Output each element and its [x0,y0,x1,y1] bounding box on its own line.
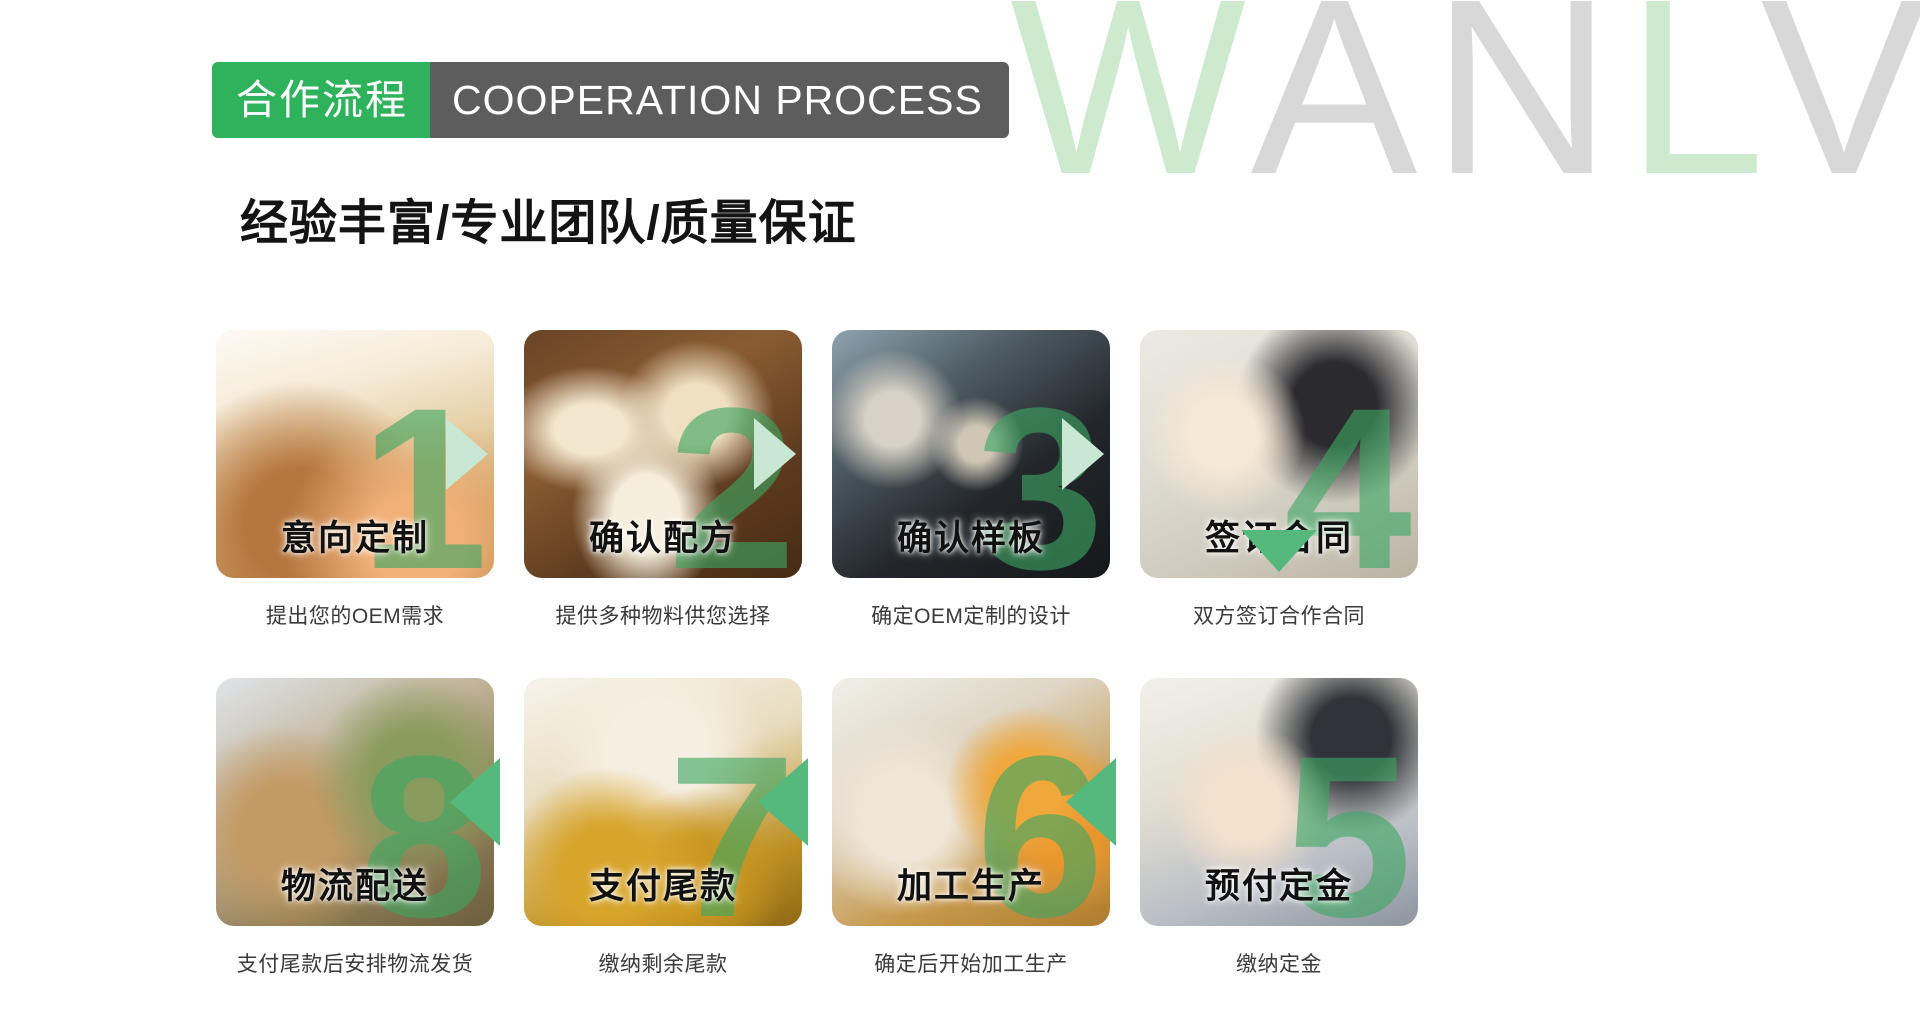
step-6-caption: 确定后开始加工生产 [832,948,1110,978]
section-title-banner: 合作流程 COOPERATION PROCESS [212,62,1009,138]
step-4-caption: 双方签订合作合同 [1140,600,1418,630]
step-1-label: 意向定制 [216,521,494,556]
step-card-5[interactable]: 5 预付定金 缴纳定金 [1140,678,1418,978]
step-3-label: 确认样板 [832,521,1110,556]
arrow-1-to-2-icon [446,418,488,490]
step-7-label: 支付尾款 [524,869,802,904]
step-8-label: 物流配送 [216,869,494,904]
process-steps-grid: 1 意向定制 提出您的OEM需求 2 确认配方 提供多种物料供您选择 3 [0,330,1920,978]
step-5-label: 预付定金 [1140,869,1418,904]
step-7-caption: 缴纳剩余尾款 [524,948,802,978]
step-6-label: 加工生产 [832,869,1110,904]
arrow-5-to-6-icon [1066,758,1116,846]
section-title-english: COOPERATION PROCESS [430,62,1009,138]
step-8-caption: 支付尾款后安排物流发货 [216,948,494,978]
arrow-2-to-3-icon [754,418,796,490]
watermark-letters-an: AN [1251,0,1626,226]
step-3-caption: 确定OEM定制的设计 [832,600,1110,630]
step-5-image-card[interactable]: 5 预付定金 [1140,678,1418,926]
process-row-top: 1 意向定制 提出您的OEM需求 2 确认配方 提供多种物料供您选择 3 [0,330,1920,630]
step-2-caption: 提供多种物料供您选择 [524,600,802,630]
arrow-3-to-4-icon [1062,418,1104,490]
arrow-4-to-5-icon [1241,530,1317,572]
process-row-bottom: 8 物流配送 支付尾款后安排物流发货 7 支付尾款 缴纳剩余尾款 6 [0,678,1920,978]
arrow-7-to-8-icon [450,758,500,846]
watermark-letter-v: V [1760,0,1920,226]
step-5-caption: 缴纳定金 [1140,948,1418,978]
step-card-4[interactable]: 4 签订合同 双方签订合作合同 [1140,330,1418,630]
step-2-label: 确认配方 [524,521,802,556]
section-title-chinese: 合作流程 [212,62,430,138]
watermark-letter-l: L [1626,0,1760,226]
watermark-letter-w: W [1010,0,1251,226]
step-1-caption: 提出您的OEM需求 [216,600,494,630]
section-subtitle: 经验丰富/专业团队/质量保证 [240,200,857,248]
brand-watermark: WANLV [1010,0,1920,212]
cooperation-process-page: WANLV 合作流程 COOPERATION PROCESS 经验丰富/专业团队… [0,0,1920,1028]
arrow-6-to-7-icon [758,758,808,846]
